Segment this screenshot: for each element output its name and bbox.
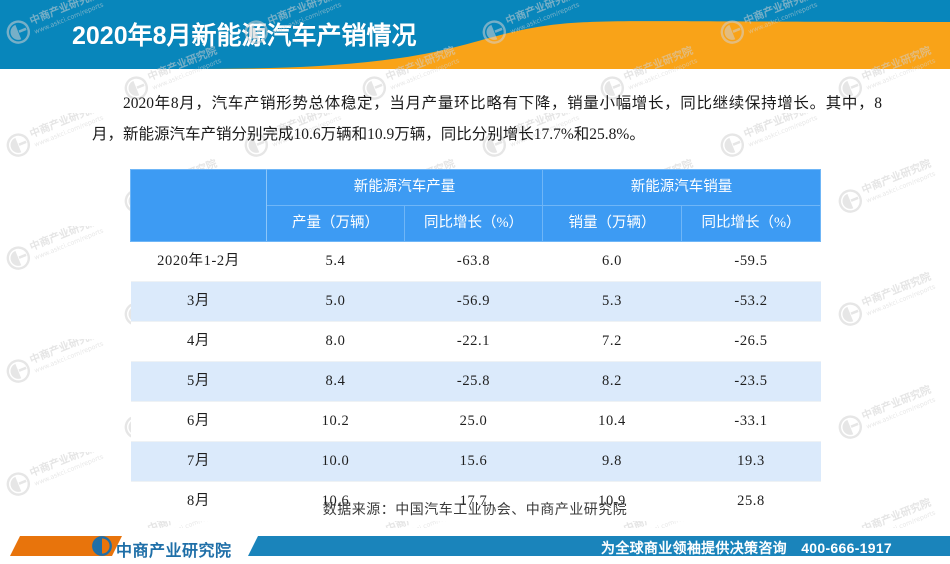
column-header-sales-yoy: 同比增长（%） [682, 206, 821, 242]
cell-production-yoy: 15.6 [405, 442, 543, 482]
cell-production-yoy: -22.1 [405, 322, 543, 362]
table-head: 新能源汽车产量 新能源汽车销量 产量（万辆） 同比增长（%） 销量（万辆） 同比… [131, 170, 821, 242]
column-header-sales-volume: 销量（万辆） [543, 206, 682, 242]
ev-production-sales-table: 新能源汽车产量 新能源汽车销量 产量（万辆） 同比增长（%） 销量（万辆） 同比… [130, 169, 821, 521]
header-banner: 2020年8月新能源汽车产销情况 [0, 0, 950, 69]
footer-bar: 中商产业研究院 为全球商业领袖提供决策咨询 400-666-1917 [0, 528, 950, 564]
table-row: 5月 8.4 -25.8 8.2 -23.5 [131, 362, 821, 402]
table-row: 4月 8.0 -22.1 7.2 -26.5 [131, 322, 821, 362]
cell-sales: 8.2 [543, 362, 682, 402]
table-row: 6月 10.2 25.0 10.4 -33.1 [131, 402, 821, 442]
cell-production: 5.0 [267, 282, 405, 322]
table-row: 2020年1-2月 5.4 -63.8 6.0 -59.5 [131, 242, 821, 282]
cell-production: 5.4 [267, 242, 405, 282]
cell-production-yoy: -63.8 [405, 242, 543, 282]
footer-slogan: 为全球商业领袖提供决策咨询 400-666-1917 [601, 538, 892, 558]
page-root: 2020年8月新能源汽车产销情况 2020年8月，汽车产销形势总体稳定，当月产量… [0, 0, 950, 564]
cell-sales: 7.2 [543, 322, 682, 362]
cell-sales-yoy: -33.1 [682, 402, 821, 442]
table-group-header-row: 新能源汽车产量 新能源汽车销量 [131, 170, 821, 206]
column-header-production-volume: 产量（万辆） [267, 206, 405, 242]
cell-period: 5月 [131, 362, 267, 402]
cell-sales-yoy: -53.2 [682, 282, 821, 322]
cell-production-yoy: -56.9 [405, 282, 543, 322]
footer-brand-name: 中商产业研究院 [116, 537, 232, 561]
table-row: 3月 5.0 -56.9 5.3 -53.2 [131, 282, 821, 322]
cell-sales-yoy: -23.5 [682, 362, 821, 402]
table-corner-cell [131, 170, 267, 242]
cell-production-yoy: 25.0 [405, 402, 543, 442]
cell-period: 6月 [131, 402, 267, 442]
cell-period: 4月 [131, 322, 267, 362]
cell-sales: 9.8 [543, 442, 682, 482]
cell-period: 2020年1-2月 [131, 242, 267, 282]
cell-production: 8.4 [267, 362, 405, 402]
cell-production-yoy: -25.8 [405, 362, 543, 402]
table-body: 2020年1-2月 5.4 -63.8 6.0 -59.5 3月 5.0 -56… [131, 242, 821, 522]
group-header-production: 新能源汽车产量 [267, 170, 543, 206]
cell-sales-yoy: -59.5 [682, 242, 821, 282]
table-row: 7月 10.0 15.6 9.8 19.3 [131, 442, 821, 482]
column-header-production-yoy: 同比增长（%） [405, 206, 543, 242]
source-note: 数据来源：中国汽车工业协会、中商产业研究院 [0, 499, 950, 519]
data-table-container: 新能源汽车产量 新能源汽车销量 产量（万辆） 同比增长（%） 销量（万辆） 同比… [130, 169, 820, 521]
company-logo-icon [92, 536, 112, 556]
cell-period: 3月 [131, 282, 267, 322]
group-header-sales: 新能源汽车销量 [543, 170, 821, 206]
cell-sales-yoy: -26.5 [682, 322, 821, 362]
cell-production: 10.0 [267, 442, 405, 482]
intro-paragraph: 2020年8月，汽车产销形势总体稳定，当月产量环比略有下降，销量小幅增长，同比继… [92, 88, 882, 150]
cell-sales-yoy: 19.3 [682, 442, 821, 482]
cell-production: 8.0 [267, 322, 405, 362]
cell-period: 7月 [131, 442, 267, 482]
cell-sales: 10.4 [543, 402, 682, 442]
cell-production: 10.2 [267, 402, 405, 442]
cell-sales: 6.0 [543, 242, 682, 282]
cell-sales: 5.3 [543, 282, 682, 322]
page-title: 2020年8月新能源汽车产销情况 [72, 16, 417, 52]
